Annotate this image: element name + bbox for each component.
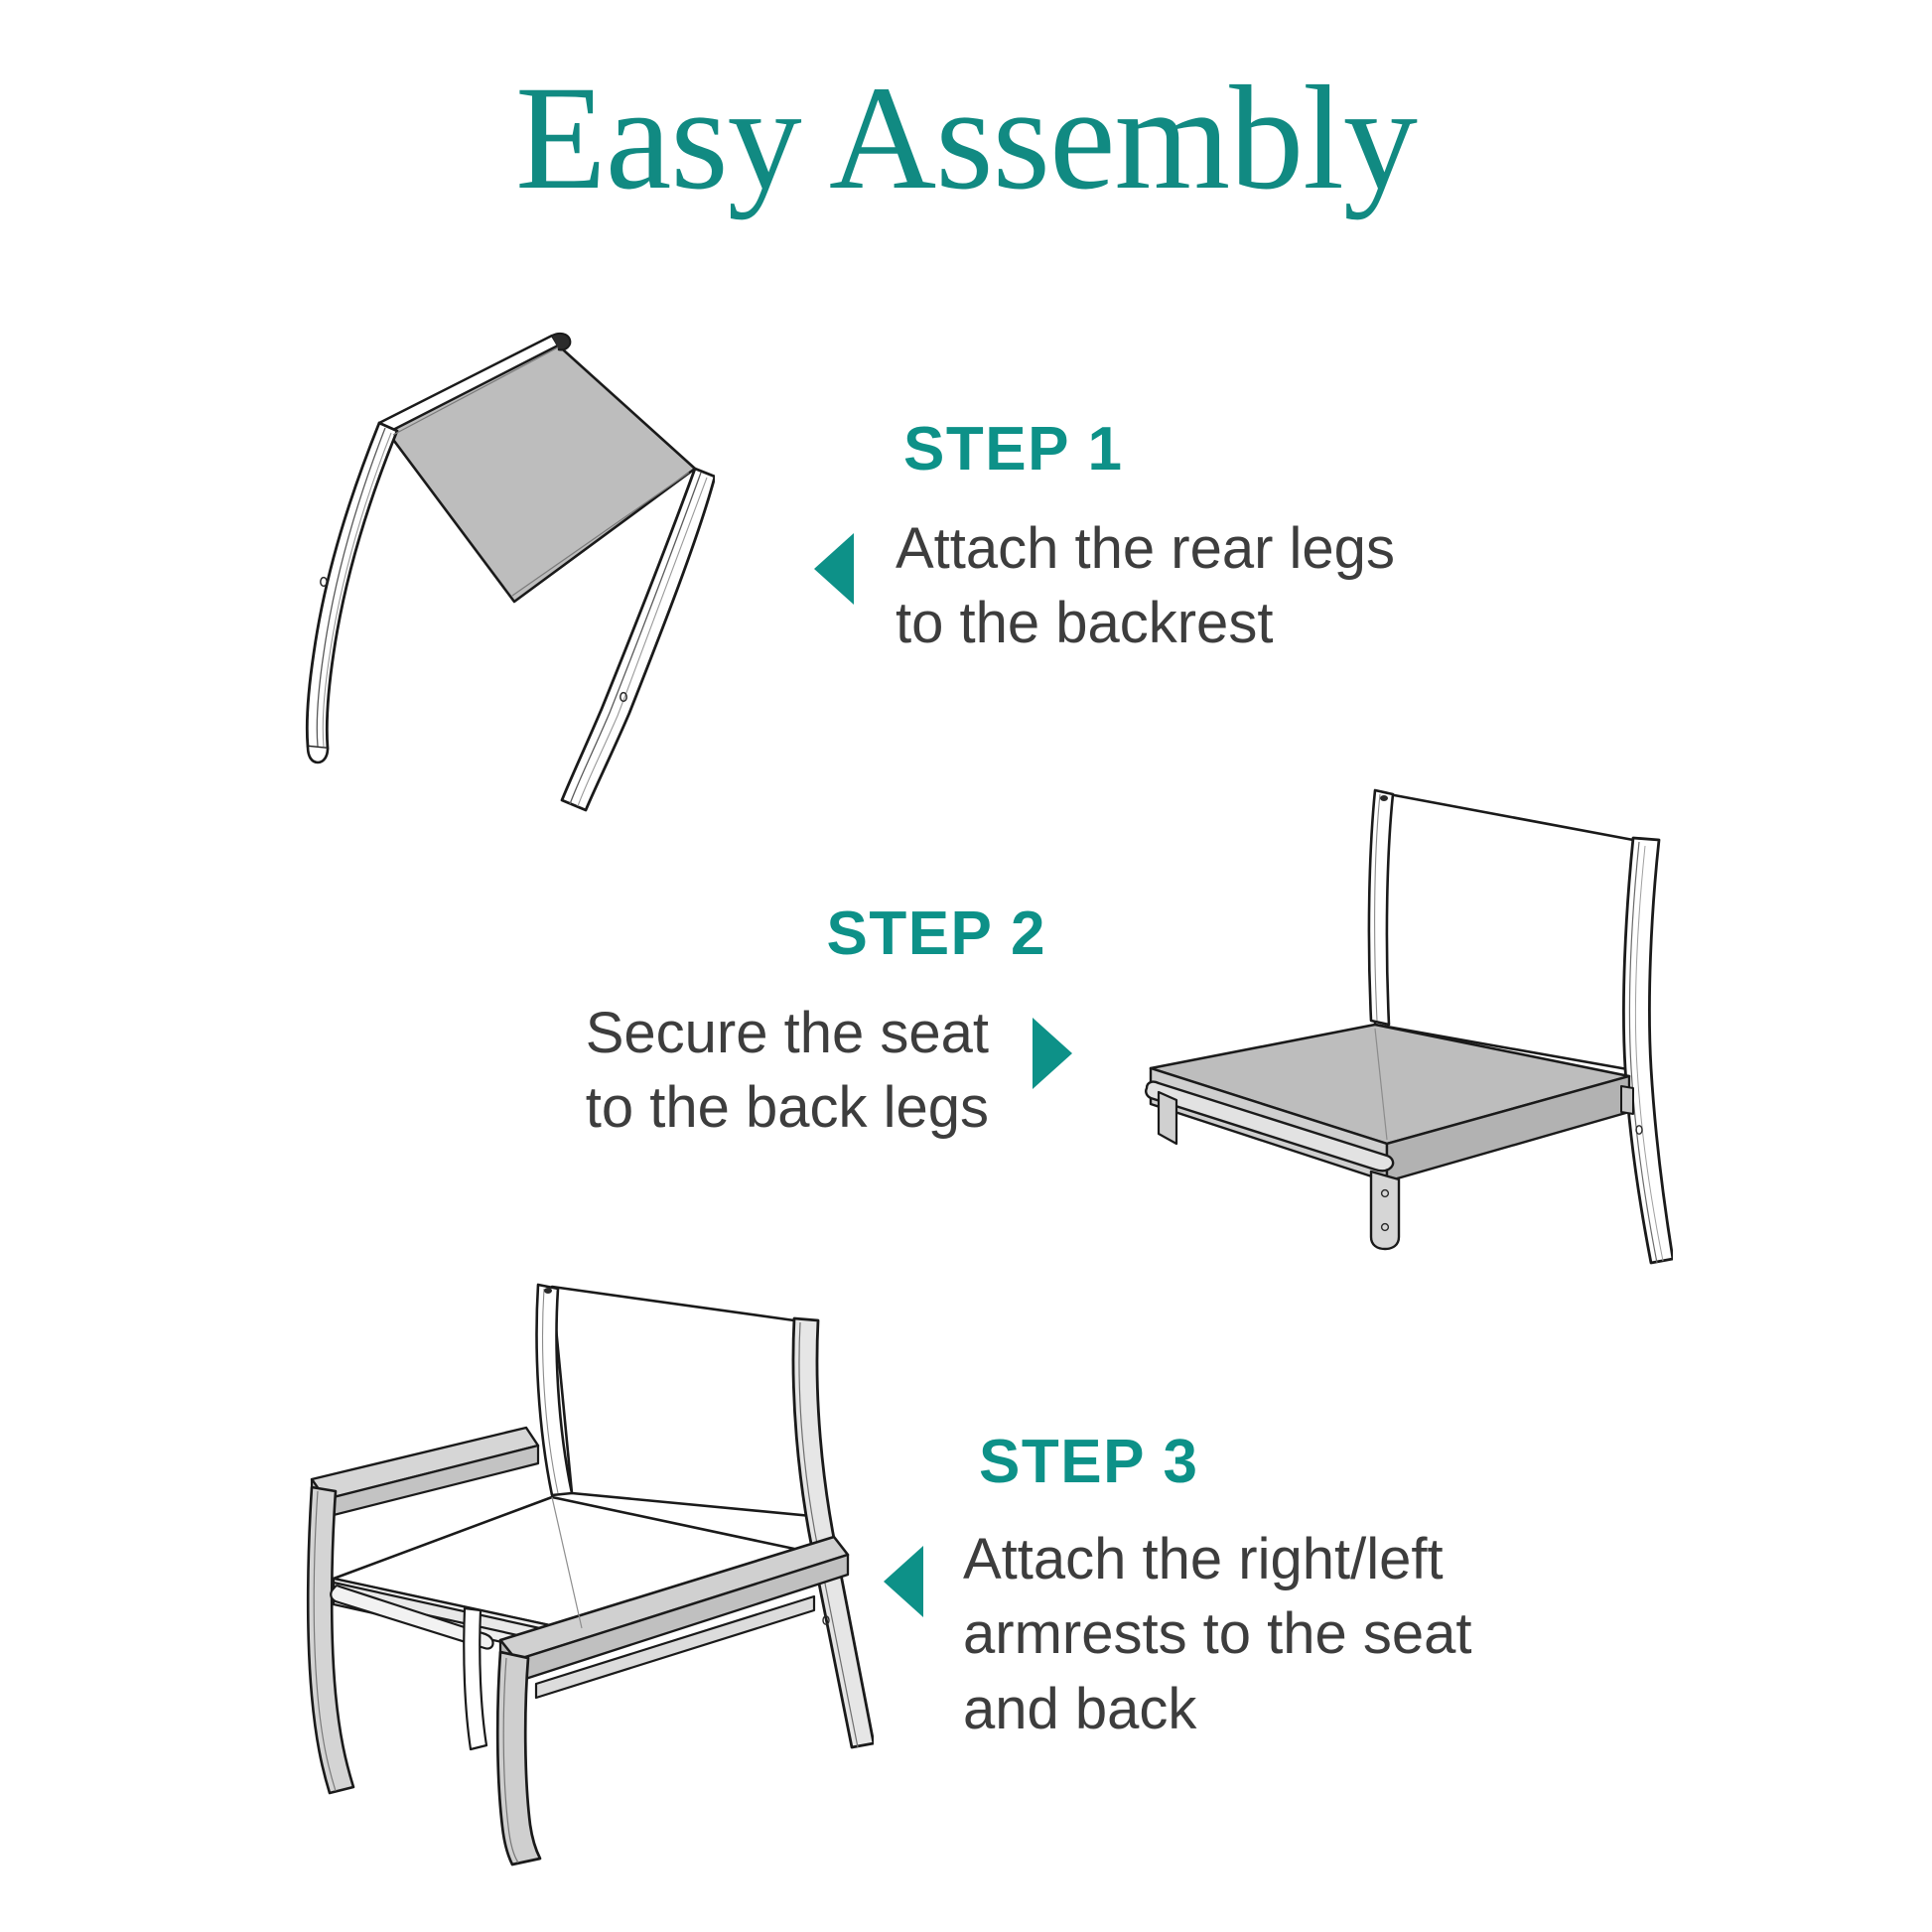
step-1-block: STEP 1 Attach the rear legs to the backr… xyxy=(814,417,1549,661)
step-1-description: Attach the rear legs to the backrest xyxy=(896,511,1395,661)
arrow-right-icon xyxy=(1033,1018,1072,1089)
easy-assembly-infographic: Easy Assembly xyxy=(0,0,1932,1932)
page-title: Easy Assembly xyxy=(0,58,1932,218)
chair-seat-attached-to-back-legs-illustration xyxy=(1077,755,1673,1350)
step-3-description: Attach the right/left armrests to the se… xyxy=(963,1522,1472,1746)
step-3-label: STEP 3 xyxy=(979,1430,1579,1494)
step-1-label: STEP 1 xyxy=(903,417,1549,482)
step-3-block: STEP 3 Attach the right/left armrests to… xyxy=(884,1430,1579,1746)
step-2-body: Secure the seat to the back legs xyxy=(397,996,1072,1146)
step-1-body: Attach the rear legs to the backrest xyxy=(814,511,1549,661)
chair-with-armrests-illustration xyxy=(238,1251,874,1866)
chair-backrest-with-rear-legs-illustration xyxy=(268,298,715,814)
arrow-left-icon xyxy=(884,1546,923,1617)
arrow-left-icon xyxy=(814,533,854,605)
step-3-body: Attach the right/left armrests to the se… xyxy=(884,1522,1579,1746)
step-2-label: STEP 2 xyxy=(397,901,1046,966)
step-2-block: STEP 2 Secure the seat to the back legs xyxy=(397,901,1072,1146)
step-2-description: Secure the seat to the back legs xyxy=(586,996,989,1146)
